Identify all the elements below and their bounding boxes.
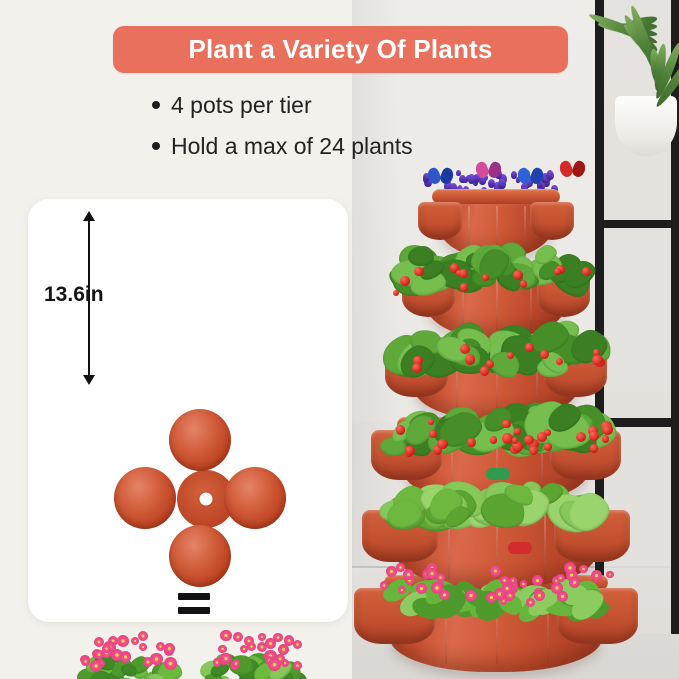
list-item: 4 pots per tier (152, 91, 532, 120)
blue-butterfly-pick (428, 168, 454, 185)
green-plant-marker (486, 468, 510, 480)
equals-bar (178, 607, 210, 614)
butterfly-wing (528, 166, 545, 185)
dimension-label: 13.6in (44, 283, 104, 307)
equals-sign-icon (178, 593, 210, 614)
butterfly-wing (438, 166, 455, 185)
planter-lobe (224, 467, 286, 529)
tier-lobe-right (530, 202, 574, 240)
blue-butterfly-pick-2 (518, 168, 544, 185)
planter-tower (376, 170, 616, 670)
plant-illustration (202, 631, 306, 679)
bullet-dot-icon (152, 142, 160, 150)
planter-lobe (169, 525, 231, 587)
plant-illustration (76, 631, 180, 679)
infographic-canvas: Plant a Variety Of Plants 4 pots per tie… (0, 0, 679, 679)
arrowhead-up-icon (83, 211, 95, 221)
drain-hole (200, 493, 213, 506)
red-butterfly-pick (560, 161, 586, 178)
list-item: Hold a max of 24 plants (152, 132, 532, 161)
tier-lobe-left (418, 202, 462, 240)
bullet-label: Hold a max of 24 plants (171, 132, 413, 161)
butterfly-wing (486, 160, 503, 179)
bullet-label: 4 pots per tier (171, 91, 312, 120)
page-title: Plant a Variety Of Plants (188, 34, 492, 65)
strawberry-foliage (388, 244, 604, 296)
shelf-post (671, 0, 679, 634)
equals-bar (178, 593, 210, 600)
diagram-card: 13.6in (28, 199, 348, 622)
arrowhead-down-icon (83, 375, 95, 385)
primrose-foliage (376, 562, 616, 620)
red-plant-marker (508, 542, 532, 554)
berry-foliage (376, 402, 616, 458)
clover-planter-top-view (136, 413, 276, 585)
feature-list: 4 pots per tier Hold a max of 24 plants (152, 91, 532, 173)
pink-butterfly-pick (476, 162, 502, 179)
planter-lobe (169, 409, 231, 471)
herb-foliage (378, 482, 614, 532)
bullet-dot-icon (152, 101, 160, 109)
butterfly-wing (570, 159, 587, 178)
strawberry-foliage (380, 322, 612, 378)
planter-lobe (114, 467, 176, 529)
title-banner: Plant a Variety Of Plants (113, 26, 568, 73)
plant-grid (76, 631, 312, 679)
